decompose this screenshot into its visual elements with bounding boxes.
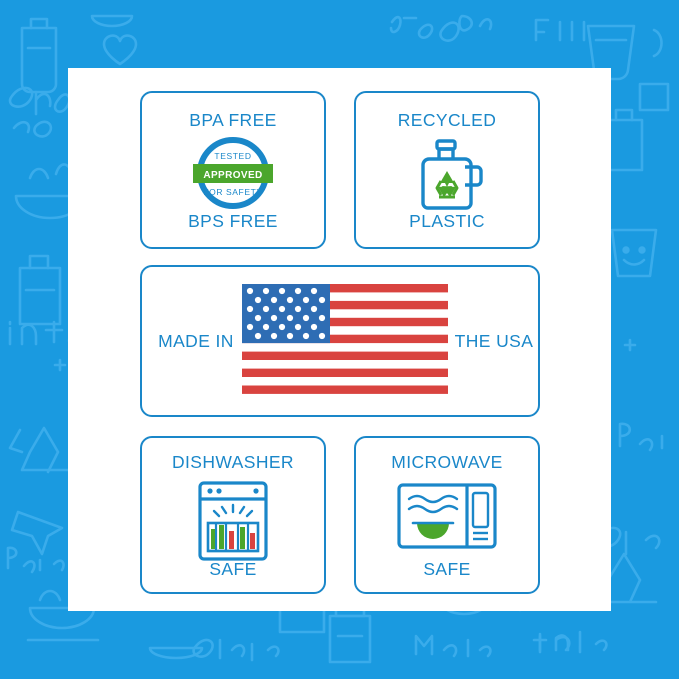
svg-text:TESTED: TESTED (214, 151, 251, 161)
svg-text:APPROVED: APPROVED (203, 170, 262, 181)
badge-bpa-free: BPA FREE TESTED APPROVED FOR SAFETY BPS … (140, 91, 326, 249)
badge-dishwasher-title: DISHWASHER (142, 452, 324, 473)
badge-recycled-title: RECYCLED (356, 110, 538, 131)
badge-microwave-subtitle: SAFE (356, 559, 538, 580)
badge-dishwasher-safe: DISHWASHER (140, 436, 326, 594)
usa-flag-icon (242, 284, 448, 399)
feature-card: BPA FREE TESTED APPROVED FOR SAFETY BPS … (68, 68, 611, 611)
approved-seal-icon: TESTED APPROVED FOR SAFETY (142, 137, 324, 209)
badge-made-in-usa: MADE IN (140, 265, 540, 417)
badge-dishwasher-subtitle: SAFE (142, 559, 324, 580)
badge-microwave-safe: MICROWAVE (354, 436, 540, 594)
milk-jug-recycle-icon (356, 137, 538, 213)
badge-recycled-plastic: RECYCLED (354, 91, 540, 249)
badge-recycled-subtitle: PLASTIC (356, 211, 538, 232)
dishwasher-icon (142, 479, 324, 563)
poster-canvas: BPA FREE TESTED APPROVED FOR SAFETY BPS … (0, 0, 679, 679)
badge-usa-left-text: MADE IN (150, 331, 242, 352)
badge-usa-right-text: THE USA (448, 331, 540, 352)
svg-text:FOR SAFETY: FOR SAFETY (203, 187, 262, 197)
badge-microwave-title: MICROWAVE (356, 452, 538, 473)
badge-bpa-subtitle: BPS FREE (142, 211, 324, 232)
badge-bpa-title: BPA FREE (142, 110, 324, 131)
microwave-icon (356, 479, 538, 553)
